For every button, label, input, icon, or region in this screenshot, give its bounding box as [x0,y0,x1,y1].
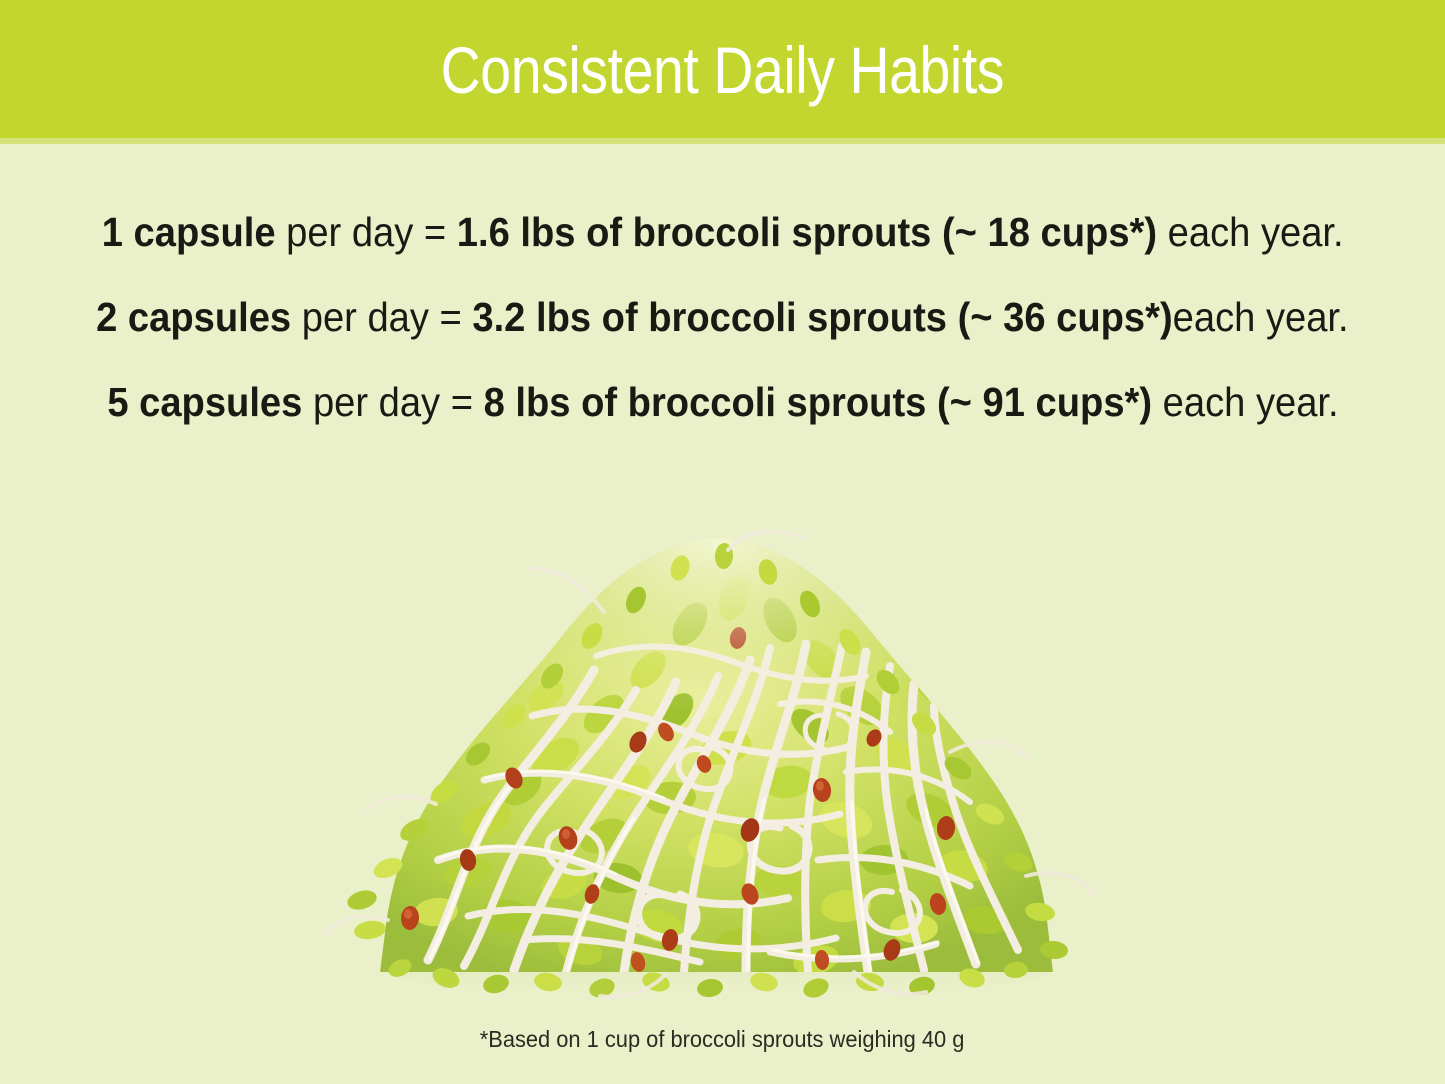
footnote-text: *Based on 1 cup of broccoli sprouts weig… [480,1026,965,1053]
statement-3-dose: 5 capsules [107,379,302,425]
broccoli-sprouts-image [318,520,1118,1000]
header-banner: Consistent Daily Habits [0,0,1445,138]
infographic-page: Consistent Daily Habits 1 capsule per da… [0,0,1445,1084]
footnote: *Based on 1 cup of broccoli sprouts weig… [0,1026,1445,1053]
statement-list: 1 capsule per day = 1.6 lbs of broccoli … [0,190,1445,445]
header-underline-divider [0,138,1445,144]
statement-2-suffix: each year. [1173,294,1349,340]
statement-row-3: 5 capsules per day = 8 lbs of broccoli s… [0,360,1445,445]
statement-1-connector: per day = [275,209,456,255]
statement-3-equivalent: 8 lbs of broccoli sprouts (~ 91 cups*) [483,379,1151,425]
statement-row-2: 2 capsules per day = 3.2 lbs of broccoli… [0,275,1445,360]
statement-2-dose: 2 capsules [96,294,291,340]
statement-3-suffix: each year. [1152,379,1339,425]
statement-1-dose: 1 capsule [102,209,276,255]
statement-row-1: 1 capsule per day = 1.6 lbs of broccoli … [0,190,1445,275]
statement-3-connector: per day = [302,379,483,425]
statement-2-connector: per day = [291,294,472,340]
sprouts-illustration [318,520,1118,1000]
statement-1-equivalent: 1.6 lbs of broccoli sprouts (~ 18 cups*) [457,209,1157,255]
statement-2-equivalent: 3.2 lbs of broccoli sprouts (~ 36 cups*) [473,294,1173,340]
statement-1-suffix: each year. [1157,209,1344,255]
page-title: Consistent Daily Habits [441,37,1004,103]
